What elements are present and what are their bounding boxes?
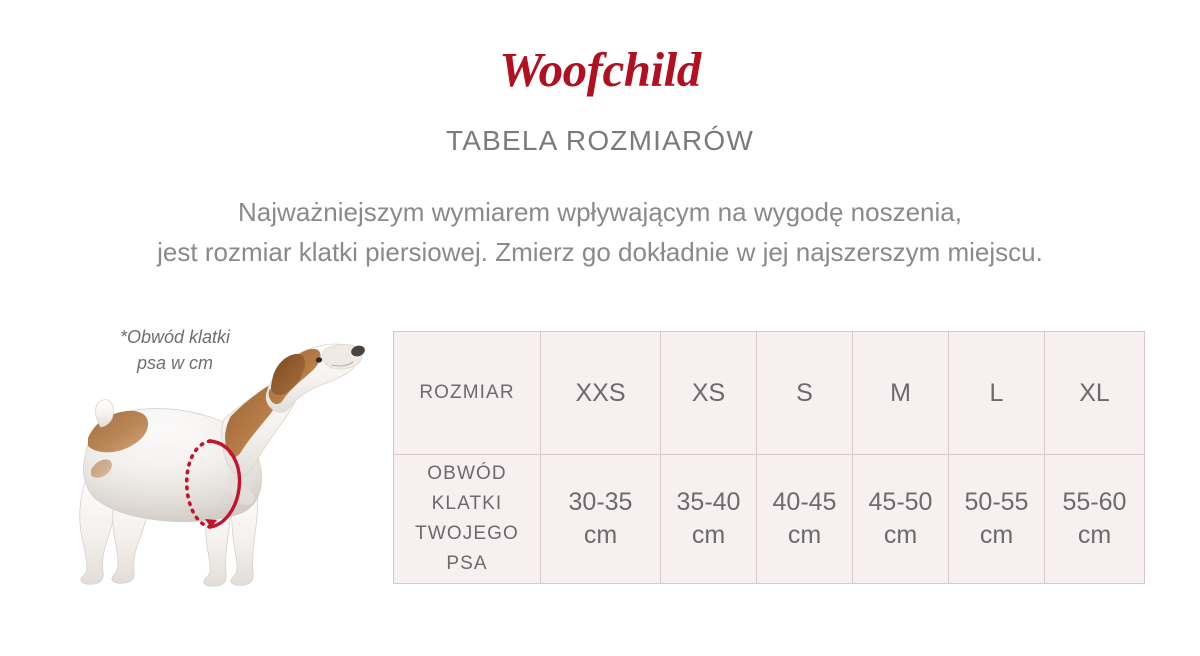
dog-illustration: *Obwód klatki psa w cm [55, 320, 385, 600]
table-cell-xl-unit: cm [1045, 519, 1144, 552]
intro-line-1: Najważniejszym wymiarem wpływającym na w… [0, 192, 1200, 232]
table-cell-xxs: 30-35 cm [541, 455, 661, 584]
row-label-chest-girth: OBWÓD KLATKI TWOJEGO PSA [394, 455, 541, 584]
table-header-size-m: M [853, 332, 949, 455]
table-header-size-xl: XL [1045, 332, 1145, 455]
row-label-line-4: PSA [446, 553, 487, 574]
table-cell-xs: 35-40 cm [661, 455, 757, 584]
intro-paragraph: Najważniejszym wymiarem wpływającym na w… [0, 192, 1200, 272]
table-cell-s: 40-45 cm [757, 455, 853, 584]
table-cell-m-range: 45-50 [853, 486, 948, 519]
size-table: ROZMIAR XXS XS S M L XL OBWÓD KLATKI TWO… [393, 331, 1145, 584]
page-title: TABELA ROZMIARÓW [0, 124, 1200, 158]
table-cell-m-unit: cm [853, 519, 948, 552]
row-label-line-2: KLATKI [432, 493, 503, 514]
table-header-size-xs: XS [661, 332, 757, 455]
table-header-size-s: S [757, 332, 853, 455]
table-cell-xxs-unit: cm [541, 519, 660, 552]
table-header-size-l: L [949, 332, 1045, 455]
table-cell-s-range: 40-45 [757, 486, 852, 519]
intro-line-2: jest rozmiar klatki piersiowej. Zmierz g… [0, 232, 1200, 272]
table-cell-xl: 55-60 cm [1045, 455, 1145, 584]
table-cell-l-range: 50-55 [949, 486, 1044, 519]
table-cell-xs-range: 35-40 [661, 486, 756, 519]
table-header-size-xxs: XXS [541, 332, 661, 455]
table-cell-xl-range: 55-60 [1045, 486, 1144, 519]
brand-logo: Woofchild [0, 40, 1200, 100]
table-header-label: ROZMIAR [394, 332, 541, 455]
table-cell-s-unit: cm [757, 519, 852, 552]
row-label-line-3: TWOJEGO [415, 523, 519, 544]
table-header-row: ROZMIAR XXS XS S M L XL [394, 332, 1145, 455]
table-cell-l: 50-55 cm [949, 455, 1045, 584]
table-cell-m: 45-50 cm [853, 455, 949, 584]
table-row: OBWÓD KLATKI TWOJEGO PSA 30-35 cm 35-40 … [394, 455, 1145, 584]
table-cell-xs-unit: cm [661, 519, 756, 552]
table-cell-l-unit: cm [949, 519, 1044, 552]
row-label-line-1: OBWÓD [427, 463, 506, 484]
dog-photo [55, 320, 385, 600]
table-cell-xxs-range: 30-35 [541, 486, 660, 519]
